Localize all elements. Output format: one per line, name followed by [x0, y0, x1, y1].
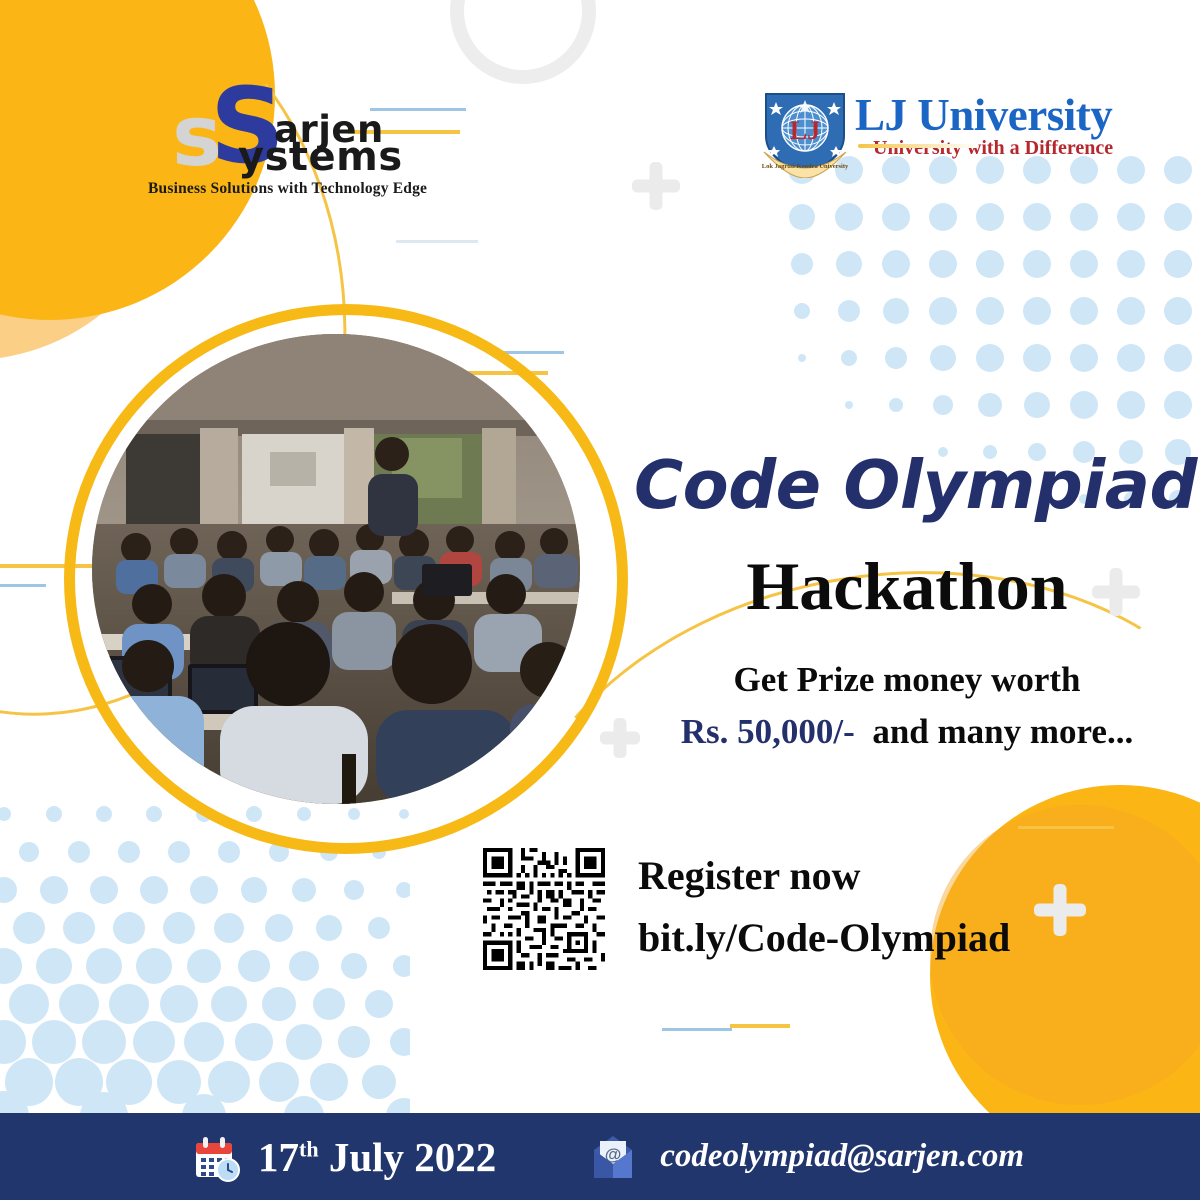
sarjen-systems-logo: s S arjen ystems Business Solutions with… [148, 72, 448, 184]
decor-plus-icon-bottom-right [1034, 884, 1086, 936]
lj-university-wordmark: LJ University University with a Differen… [855, 92, 1113, 160]
decor-rule-grey-top [396, 240, 478, 243]
event-date-rest: July 2022 [329, 1134, 496, 1180]
envelope-at-icon: @ [588, 1132, 638, 1182]
decor-rule-yellow-bottom [730, 1024, 790, 1028]
lj-university-logo: LJ Lok Jagruti Kendra University LJ Univ… [760, 92, 1140, 178]
page-title: Code Olympiad [634, 452, 1180, 519]
qr-code-icon[interactable] [483, 848, 605, 970]
page-subtitle: Hackathon [634, 552, 1180, 620]
register-label: Register now [638, 852, 861, 899]
calendar-clock-icon [190, 1131, 242, 1183]
prize-line-1: Get Prize money worth [634, 660, 1180, 700]
sarjen-logo-tagline: Business Solutions with Technology Edge [148, 180, 427, 198]
footer-bar: 17th July 2022 @ codeolympiad@sarjen.com [0, 1113, 1200, 1200]
sarjen-logo-word-ystems: ystems [238, 134, 403, 180]
decor-rule-yellow-right [1018, 826, 1114, 829]
lj-university-tagline: University with a Difference [855, 137, 1113, 160]
event-date-day: 17 [258, 1134, 299, 1180]
lj-university-crest-icon: LJ Lok Jagruti Kendra University [760, 92, 850, 178]
event-date: 17th July 2022 [258, 1133, 496, 1181]
footer-content: 17th July 2022 @ codeolympiad@sarjen.com [190, 1113, 1024, 1200]
decor-ring-top-center [450, 0, 596, 84]
register-link[interactable]: bit.ly/Code-Olympiad [638, 914, 1010, 961]
svg-text:LJ: LJ [790, 116, 820, 145]
event-date-suffix: th [299, 1136, 319, 1161]
lj-university-name: LJ University [855, 92, 1113, 139]
prize-amount: Rs. 50,000/- [681, 712, 855, 751]
lj-crest-ribbon-text: Lok Jagruti Kendra University [762, 163, 849, 170]
decor-rule-blue-left [0, 584, 46, 587]
sarjen-logo-mark: s S arjen ystems Business Solutions with… [148, 72, 448, 184]
poster-canvas: s S arjen ystems Business Solutions with… [0, 0, 1200, 1200]
prize-line-2-rest: and many more... [872, 712, 1133, 751]
decor-rule-blue-bottom [662, 1028, 732, 1031]
contact-email[interactable]: codeolympiad@sarjen.com [660, 1138, 1024, 1175]
event-photo [92, 334, 580, 804]
lj-university-underline [858, 144, 978, 148]
decor-plus-icon-top [632, 162, 680, 210]
event-photo-illustration [92, 334, 580, 804]
prize-line-2: Rs. 50,000/- and many more... [634, 712, 1180, 752]
